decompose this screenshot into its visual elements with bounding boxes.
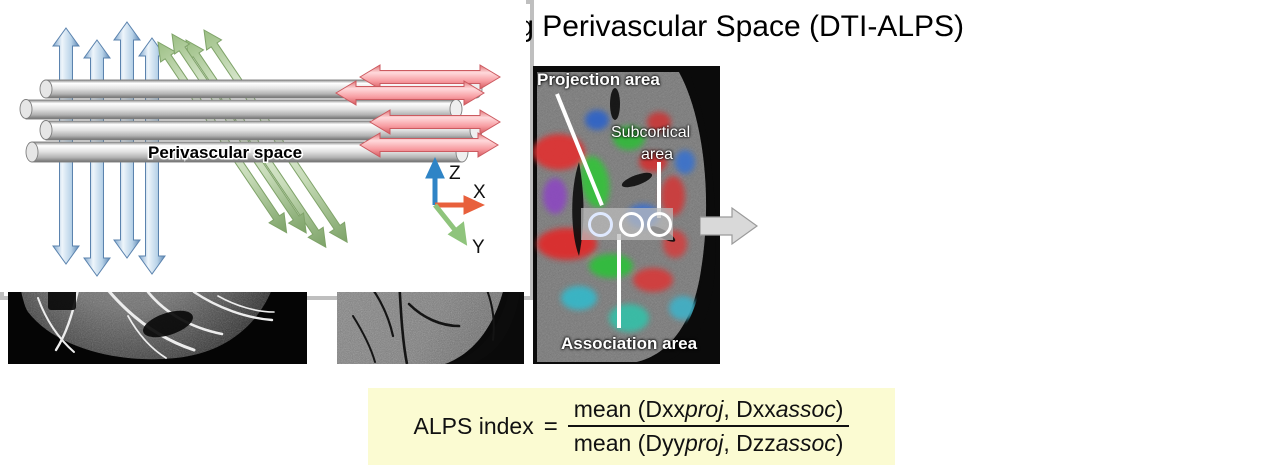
roi-circle-subcortical	[647, 212, 672, 237]
alps-index-formula-box: ALPS index = mean (Dxxproj, Dxxassoc) me…	[368, 388, 895, 465]
flow-arrow-2	[700, 206, 758, 246]
perivascular-schematic: Perivascular space Z X Y Projection area…	[0, 0, 534, 300]
formula-token: , Dzz	[723, 430, 775, 456]
label-subcortical-area-line1: Subcortical	[611, 124, 690, 142]
formula-token: mean (Dyy	[574, 430, 685, 456]
perivascular-space-label-outline: Perivascular space	[148, 143, 302, 162]
label-projection-area: Projection area	[537, 70, 660, 90]
roi-circle-projection	[588, 212, 613, 237]
formula-token: )	[836, 430, 844, 456]
formula-token: proj	[685, 396, 723, 422]
formula-token: mean (Dxx	[574, 396, 685, 422]
formula-equals-sign: =	[544, 413, 558, 441]
roi-circle-association	[619, 212, 644, 237]
axis-label-y: Y	[472, 237, 485, 259]
formula-token: , Dxx	[723, 396, 775, 422]
leader-line-association	[617, 234, 621, 328]
formula-denominator: mean (Dyyproj, Dzzassoc)	[568, 427, 850, 457]
formula-token: )	[836, 396, 844, 422]
formula-token: assoc	[776, 396, 836, 422]
formula-fraction: mean (Dxxproj, Dxxassoc) mean (Dyyproj, …	[568, 396, 850, 457]
formula-lhs: ALPS index	[414, 413, 534, 440]
axis-label-z: Z	[449, 163, 461, 185]
formula-token: assoc	[776, 430, 836, 456]
schematic-graphic: Perivascular space	[0, 0, 526, 292]
color-fa-map: Projection area Subcortical area Associa…	[533, 66, 720, 364]
label-association-area: Association area	[561, 334, 697, 354]
label-subcortical-area-line2: area	[641, 146, 673, 164]
axis-label-x: X	[473, 182, 486, 204]
formula-numerator: mean (Dxxproj, Dxxassoc)	[568, 396, 850, 425]
formula-token: proj	[685, 430, 723, 456]
